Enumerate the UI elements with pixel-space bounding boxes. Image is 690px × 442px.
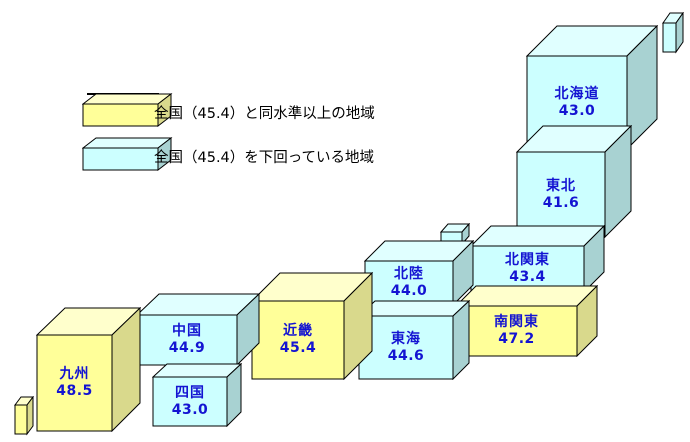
japan-regional-cartogram: 全国（45.4）と同水準以上の地域 全国（45.4）を下回っている地域 [0,0,690,440]
hokuriku-value: 44.0 [391,283,428,300]
minamikanto-value: 47.2 [498,331,535,348]
kitakanto-value: 43.4 [509,269,546,286]
islet-northeast-shape [662,12,690,54]
region-block-kitakanto[interactable]: 北関東 43.4 [470,225,605,293]
region-block-minamikanto[interactable]: 南関東 47.2 [455,285,598,357]
hokuriku-label: 北陸 [394,266,424,283]
kinki-label: 近畿 [283,323,313,340]
legend-label-below: 全国（45.4）を下回っている地域 [154,146,374,167]
region-block-hokuriku[interactable]: 北陸 44.0 [364,240,474,306]
kinki-value: 45.4 [280,340,317,357]
tohoku-value: 41.6 [543,195,580,212]
hokkaido-label: 北海道 [555,86,600,103]
tokai-value: 44.6 [388,348,425,365]
chugoku-label: 中国 [172,323,202,340]
kyushu-value: 48.5 [56,383,93,400]
islet-northeast [662,12,690,58]
shikoku-value: 43.0 [172,402,209,419]
region-block-tokai[interactable]: 東海 44.6 [358,300,470,380]
chugoku-value: 44.9 [169,340,206,357]
region-block-kyushu[interactable]: 九州 48.5 [36,307,141,432]
region-block-shikoku[interactable]: 四国 43.0 [152,363,242,427]
shikoku-label: 四国 [175,385,205,402]
legend-label-above: 全国（45.4）と同水準以上の地域 [154,102,375,123]
region-block-tohoku[interactable]: 東北 41.6 [516,125,632,238]
kitakanto-label: 北関東 [505,252,550,269]
hokkaido-value: 43.0 [559,103,596,120]
region-block-kinki[interactable]: 近畿 45.4 [251,272,373,380]
minamikanto-label: 南関東 [494,314,539,331]
kyushu-label: 九州 [60,366,90,383]
region-block-chugoku[interactable]: 中国 44.9 [136,293,260,366]
tohoku-label: 東北 [546,178,576,195]
tokai-label: 東海 [391,331,421,348]
